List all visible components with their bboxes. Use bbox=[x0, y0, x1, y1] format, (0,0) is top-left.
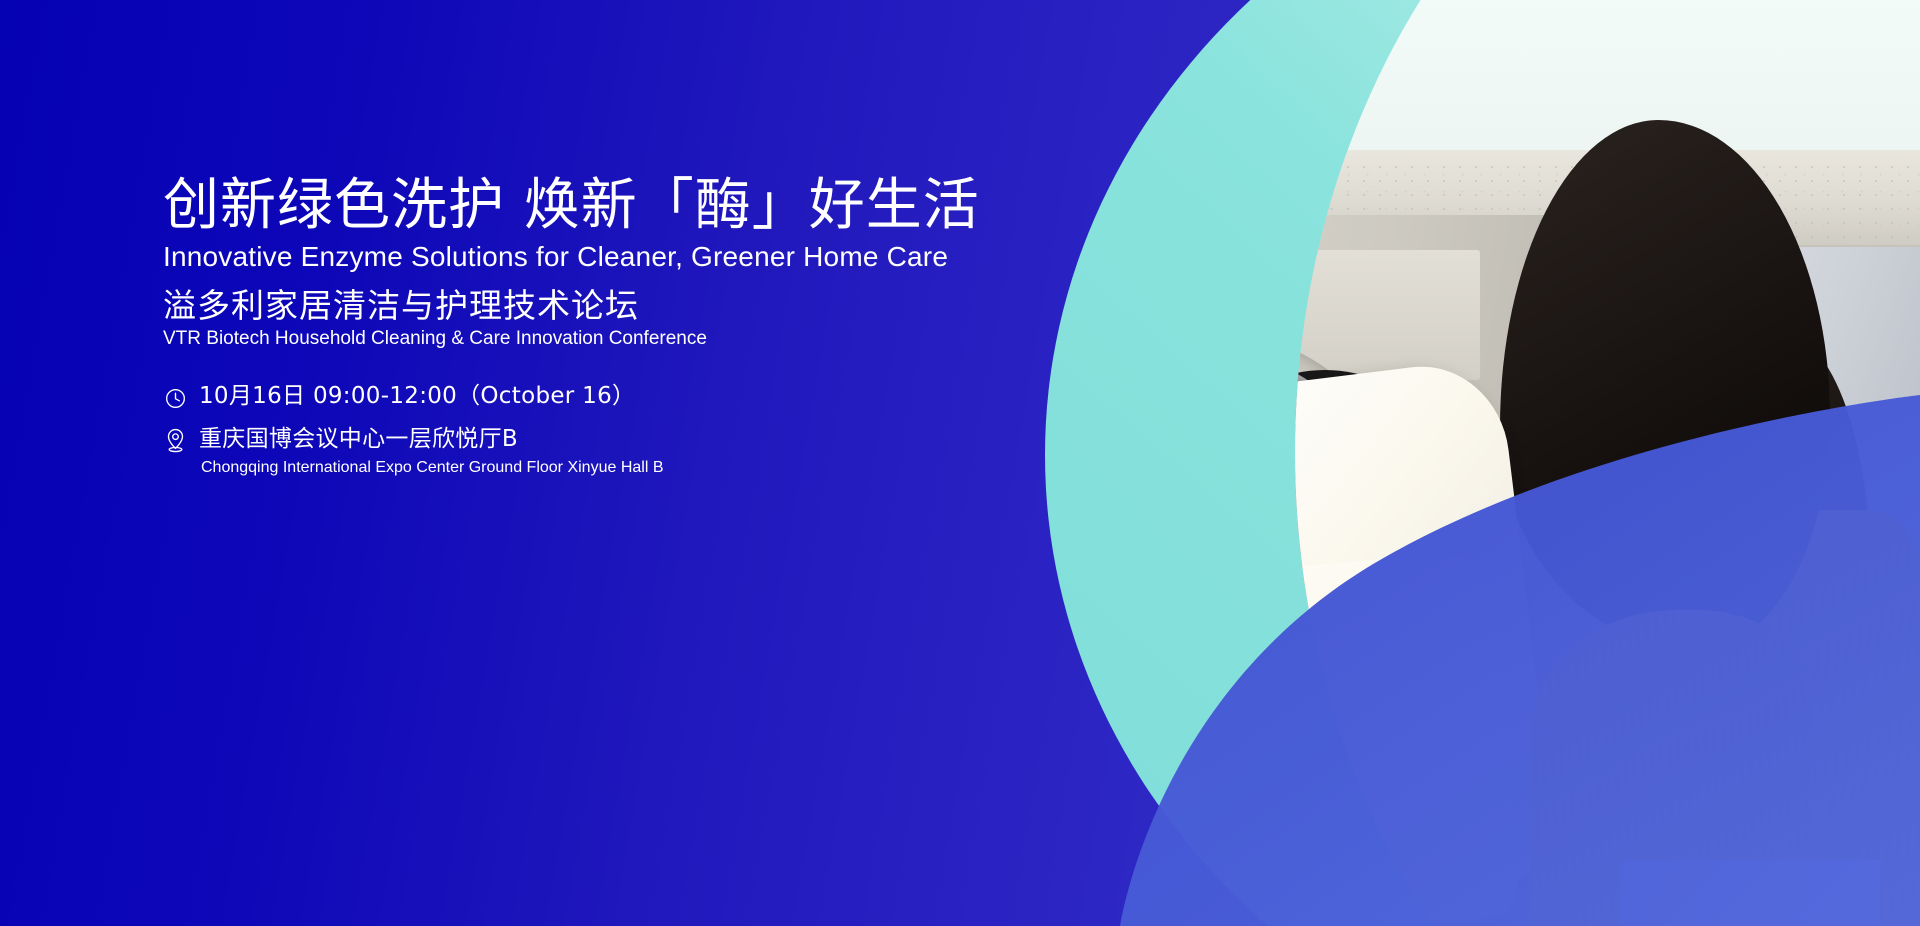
clock-icon bbox=[163, 386, 187, 410]
subtitle-chinese: 溢多利家居清洁与护理技术论坛 bbox=[163, 288, 639, 324]
headline-english: Innovative Enzyme Solutions for Cleaner,… bbox=[163, 240, 948, 274]
event-location-chinese: 重庆国博会议中心一层欣悦厅B bbox=[199, 425, 664, 454]
subtitle-english: VTR Biotech Household Cleaning & Care In… bbox=[163, 328, 707, 351]
event-details: 10月16日 09:00-12:00（October 16） 重庆国博会议中心一… bbox=[163, 382, 863, 493]
event-location-english: Chongqing International Expo Center Grou… bbox=[199, 457, 664, 479]
headline-chinese: 创新绿色洗护 焕新「酶」好生活 bbox=[163, 178, 980, 234]
event-location-row: 重庆国博会议中心一层欣悦厅B Chongqing International E… bbox=[163, 425, 863, 479]
location-pin-icon bbox=[163, 429, 187, 453]
conference-banner: 创新绿色洗护 焕新「酶」好生活 Innovative Enzyme Soluti… bbox=[0, 0, 1920, 926]
event-datetime-row: 10月16日 09:00-12:00（October 16） bbox=[163, 382, 863, 411]
banner-text-column: 创新绿色洗护 焕新「酶」好生活 Innovative Enzyme Soluti… bbox=[163, 0, 883, 926]
event-datetime-text: 10月16日 09:00-12:00（October 16） bbox=[199, 382, 635, 411]
